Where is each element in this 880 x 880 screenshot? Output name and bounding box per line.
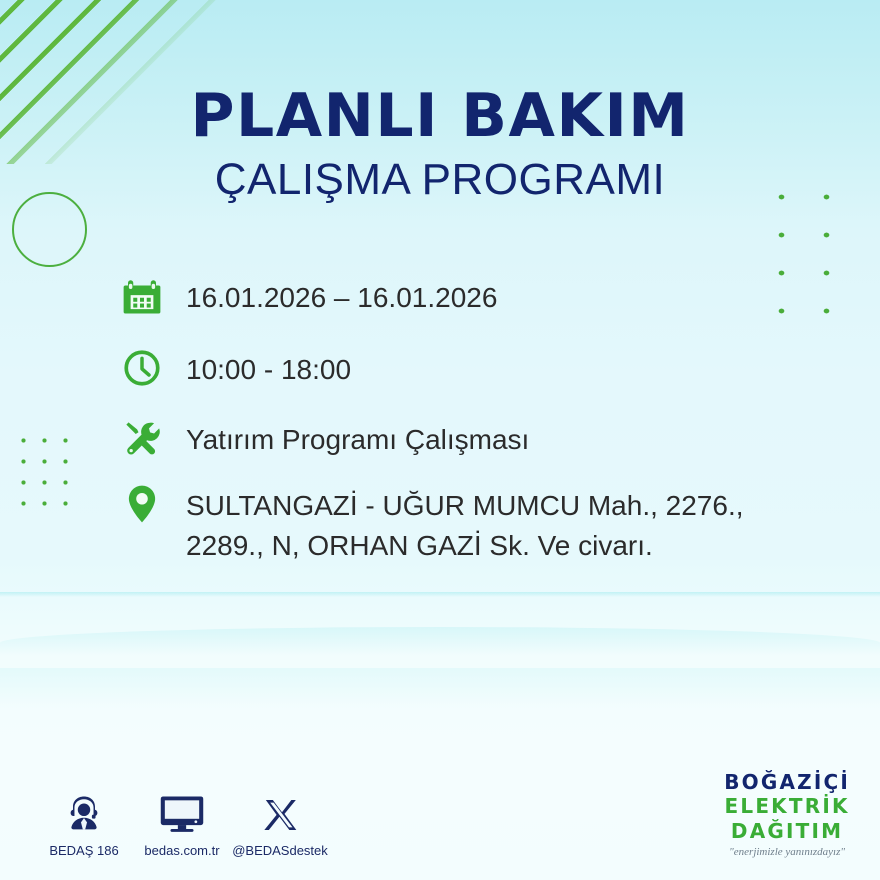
page-subtitle: ÇALIŞMA PROGRAMI [0,152,880,207]
poster-header: PLANLI BAKIM ÇALIŞMA PROGRAMI [0,86,880,207]
detail-row-address: SULTANGAZİ - UĞUR MUMCU Mah., 2276., 228… [118,480,798,566]
map-pin-icon [118,480,166,528]
tools-icon [118,414,166,462]
detail-row-work-type: Yatırım Programı Çalışması [118,414,798,462]
logo-tagline: "enerjimizle yanınızdayız" [724,846,850,858]
contact-website[interactable]: bedas.com.tr [134,789,230,858]
detail-row-time: 10:00 - 18:00 [118,344,798,392]
time-range-text: 10:00 - 18:00 [186,344,351,390]
background-wave-bottom [0,668,880,708]
detail-row-date: 16.01.2026 – 16.01.2026 [118,272,798,320]
background-wave-top [0,592,880,597]
planned-maintenance-poster: PLANLI BAKIM ÇALIŞMA PROGRAMI [0,0,880,880]
clock-icon [118,344,166,392]
logo-line-dagitim: DAĞITIM [724,819,850,843]
dot-grid-left-decoration [11,428,83,518]
footer-contacts: BEDAŞ 186 bedas.com.tr @BEDASdestek [36,789,330,858]
maintenance-details: 16.01.2026 – 16.01.2026 10:00 - 18:00 [118,272,798,586]
page-title: PLANLI BAKIM [0,86,880,146]
support-agent-icon [36,789,132,835]
bedas-logo: BOĞAZİÇİ ELEKTRİK DAĞITIM "enerjimizle y… [724,770,850,858]
contact-call-center[interactable]: BEDAŞ 186 [36,789,132,858]
address-text: SULTANGAZİ - UĞUR MUMCU Mah., 2276., 228… [186,480,786,566]
x-twitter-icon [232,789,328,835]
work-type-text: Yatırım Programı Çalışması [186,414,529,460]
background-wave-middle [0,627,880,655]
contact-call-center-label: BEDAŞ 186 [36,843,132,858]
contact-website-label: bedas.com.tr [134,843,230,858]
contact-x-account-label: @BEDASdestek [232,843,328,858]
contact-x-account[interactable]: @BEDASdestek [232,789,328,858]
calendar-icon [118,272,166,320]
logo-line-bogazici: BOĞAZİÇİ [724,770,850,794]
date-range-text: 16.01.2026 – 16.01.2026 [186,272,497,318]
monitor-icon [134,789,230,835]
logo-line-elektrik: ELEKTRİK [724,794,850,818]
